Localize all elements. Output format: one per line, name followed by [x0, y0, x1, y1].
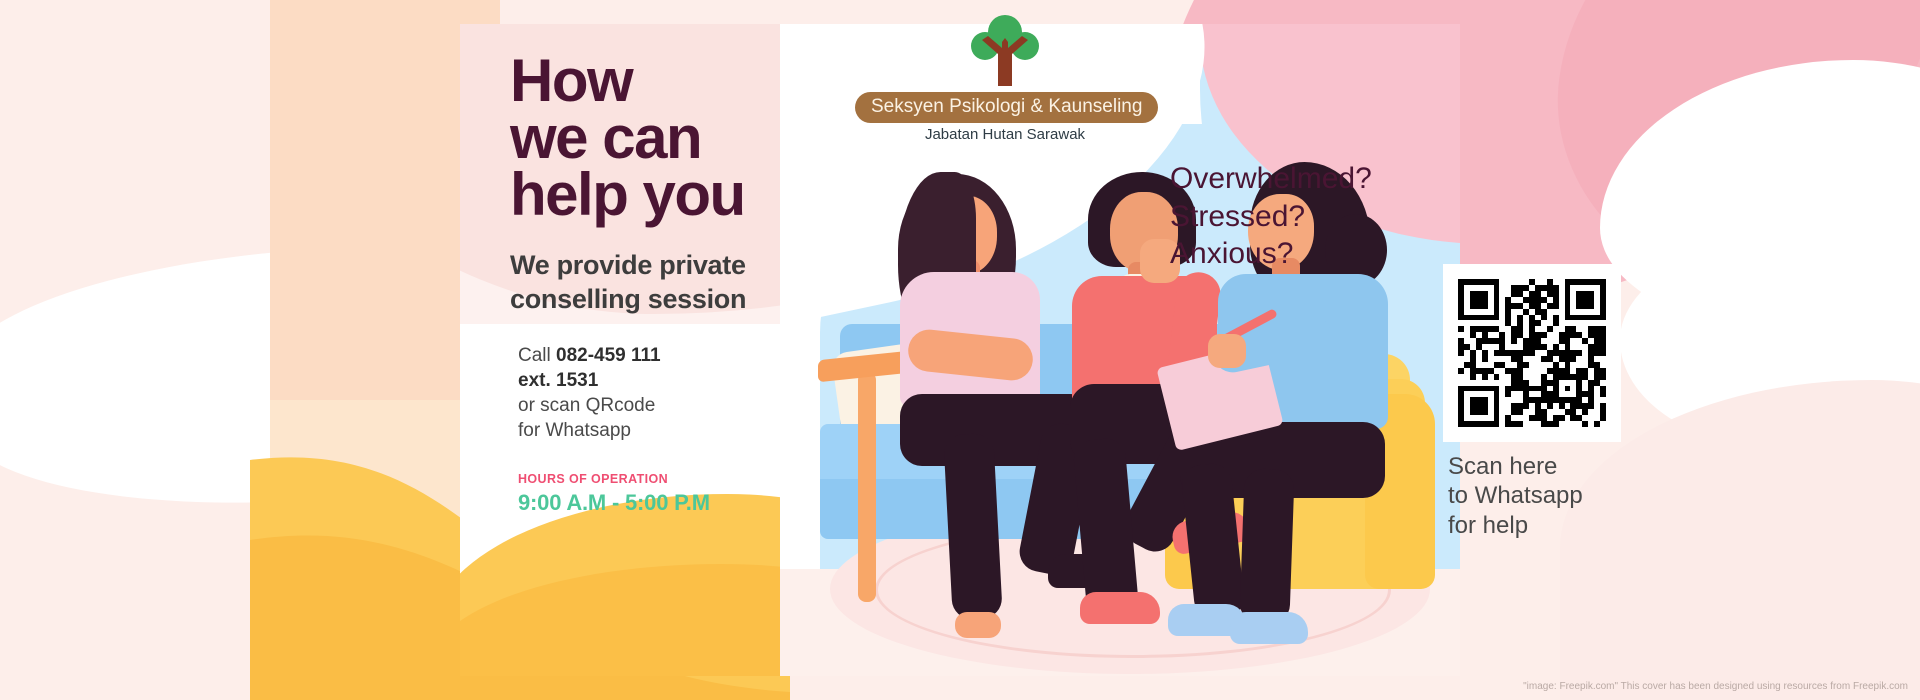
- qr-instruction-line-1: or scan QRcode: [518, 395, 655, 416]
- banner-canvas: How we can help you We provide private c…: [0, 0, 1920, 700]
- question-anxious: Anxious?: [1170, 235, 1372, 273]
- phone-number: 082-459 111: [556, 345, 661, 366]
- client-man-shoe: [1080, 592, 1160, 624]
- counselor-hand: [1208, 334, 1246, 368]
- qr-caption-line-2: to Whatsapp: [1448, 481, 1648, 510]
- hours-value: 9:00 A.M - 5:00 P.M: [518, 490, 840, 516]
- logo-title: Seksyen Psikologi & Kaunseling: [855, 92, 1158, 123]
- hours-block: HOURS OF OPERATION 9:00 A.M - 5:00 P.M: [518, 472, 840, 516]
- organisation-logo: Seksyen Psikologi & Kaunseling Jabatan H…: [855, 14, 1155, 143]
- tree-icon: [962, 14, 1048, 90]
- counselor-shoe-right: [1230, 612, 1308, 644]
- qr-code-matrix: [1458, 279, 1606, 427]
- qr-code-icon[interactable]: [1443, 264, 1621, 442]
- phone-extension: ext. 1531: [518, 370, 598, 391]
- qr-caption: Scan here to Whatsapp for help: [1448, 452, 1648, 540]
- qr-caption-line-3: for help: [1448, 511, 1648, 540]
- contact-info: Call 082-459 111 ext. 1531 or scan QRcod…: [518, 343, 748, 444]
- subheading: We provide private conselling session: [510, 249, 840, 317]
- page-title: How we can help you: [510, 52, 840, 223]
- qr-caption-line-1: Scan here: [1448, 452, 1648, 481]
- question-overwhelmed: Overwhelmed?: [1170, 160, 1372, 198]
- hours-label: HOURS OF OPERATION: [518, 472, 840, 486]
- qr-instruction-line-2: for Whatsapp: [518, 420, 631, 441]
- question-list: Overwhelmed? Stressed? Anxious?: [1170, 160, 1372, 273]
- client-woman-shin-back: [943, 433, 1003, 620]
- logo-subtitle: Jabatan Hutan Sarawak: [855, 126, 1155, 143]
- question-stressed: Stressed?: [1170, 198, 1372, 236]
- counselor-shin-right: [1239, 468, 1294, 625]
- client-woman-foot: [955, 612, 1001, 638]
- couch-leg: [858, 372, 876, 602]
- image-credit: "image: Freepik.com" This cover has been…: [1523, 681, 1908, 692]
- call-prefix: Call: [518, 345, 556, 366]
- subheading-line-2: conselling session: [510, 284, 746, 314]
- text-column: How we can help you We provide private c…: [510, 52, 840, 516]
- subheading-line-1: We provide private: [510, 250, 746, 280]
- headline-line-3: help you: [510, 161, 745, 228]
